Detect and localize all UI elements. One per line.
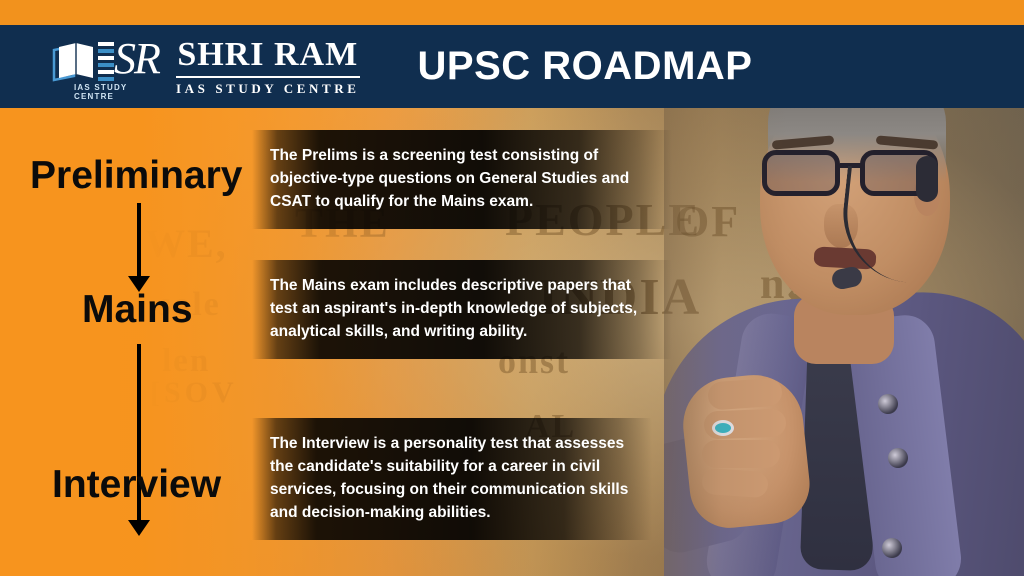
logo-bar bbox=[98, 70, 114, 74]
logo-bar bbox=[98, 63, 114, 67]
upsc-roadmap-infographic: WE, THE PEOPLE OF INDIA sole len onst [S… bbox=[0, 0, 1024, 576]
stage-description-mains: The Mains exam includes descriptive pape… bbox=[252, 260, 672, 359]
open-book-icon bbox=[52, 42, 100, 84]
logo-bar bbox=[98, 77, 114, 81]
stage-description-text: The Prelims is a screening test consisti… bbox=[270, 144, 654, 213]
brand-lockup[interactable]: SHRI RAM IAS STUDY CENTRE bbox=[176, 37, 360, 97]
stage-label-mains: Mains bbox=[82, 288, 193, 332]
brand-divider bbox=[176, 76, 360, 78]
brand-subtitle: IAS STUDY CENTRE bbox=[176, 81, 360, 97]
arrow-preliminary-to-mains bbox=[137, 203, 141, 278]
stage-description-text: The Interview is a personality test that… bbox=[270, 432, 634, 524]
presenter-photo bbox=[664, 108, 1024, 576]
stage-description-interview: The Interview is a personality test that… bbox=[252, 418, 652, 540]
presenter-edge-fade bbox=[664, 108, 1024, 576]
logo-bar bbox=[98, 56, 114, 60]
logo-monogram: SR bbox=[114, 36, 159, 82]
logo-bar bbox=[98, 42, 114, 46]
stage-label-preliminary: Preliminary bbox=[30, 154, 242, 198]
arrow-down-icon bbox=[128, 520, 150, 536]
top-accent-strip bbox=[0, 0, 1024, 25]
logo-caption: IAS STUDY CENTRE bbox=[74, 83, 160, 101]
stage-description-preliminary: The Prelims is a screening test consisti… bbox=[252, 130, 672, 229]
stage-label-interview: Interview bbox=[52, 463, 221, 507]
logo-bars bbox=[98, 42, 114, 82]
stage-description-text: The Mains exam includes descriptive pape… bbox=[270, 274, 654, 343]
brand-name: SHRI RAM bbox=[176, 37, 360, 73]
header-bar: SR IAS STUDY CENTRE SHRI RAM IAS STUDY C… bbox=[0, 25, 1024, 108]
page-title: UPSC ROADMAP bbox=[418, 44, 753, 89]
logo-bar bbox=[98, 49, 114, 53]
logo-mark[interactable]: SR IAS STUDY CENTRE bbox=[48, 36, 160, 98]
